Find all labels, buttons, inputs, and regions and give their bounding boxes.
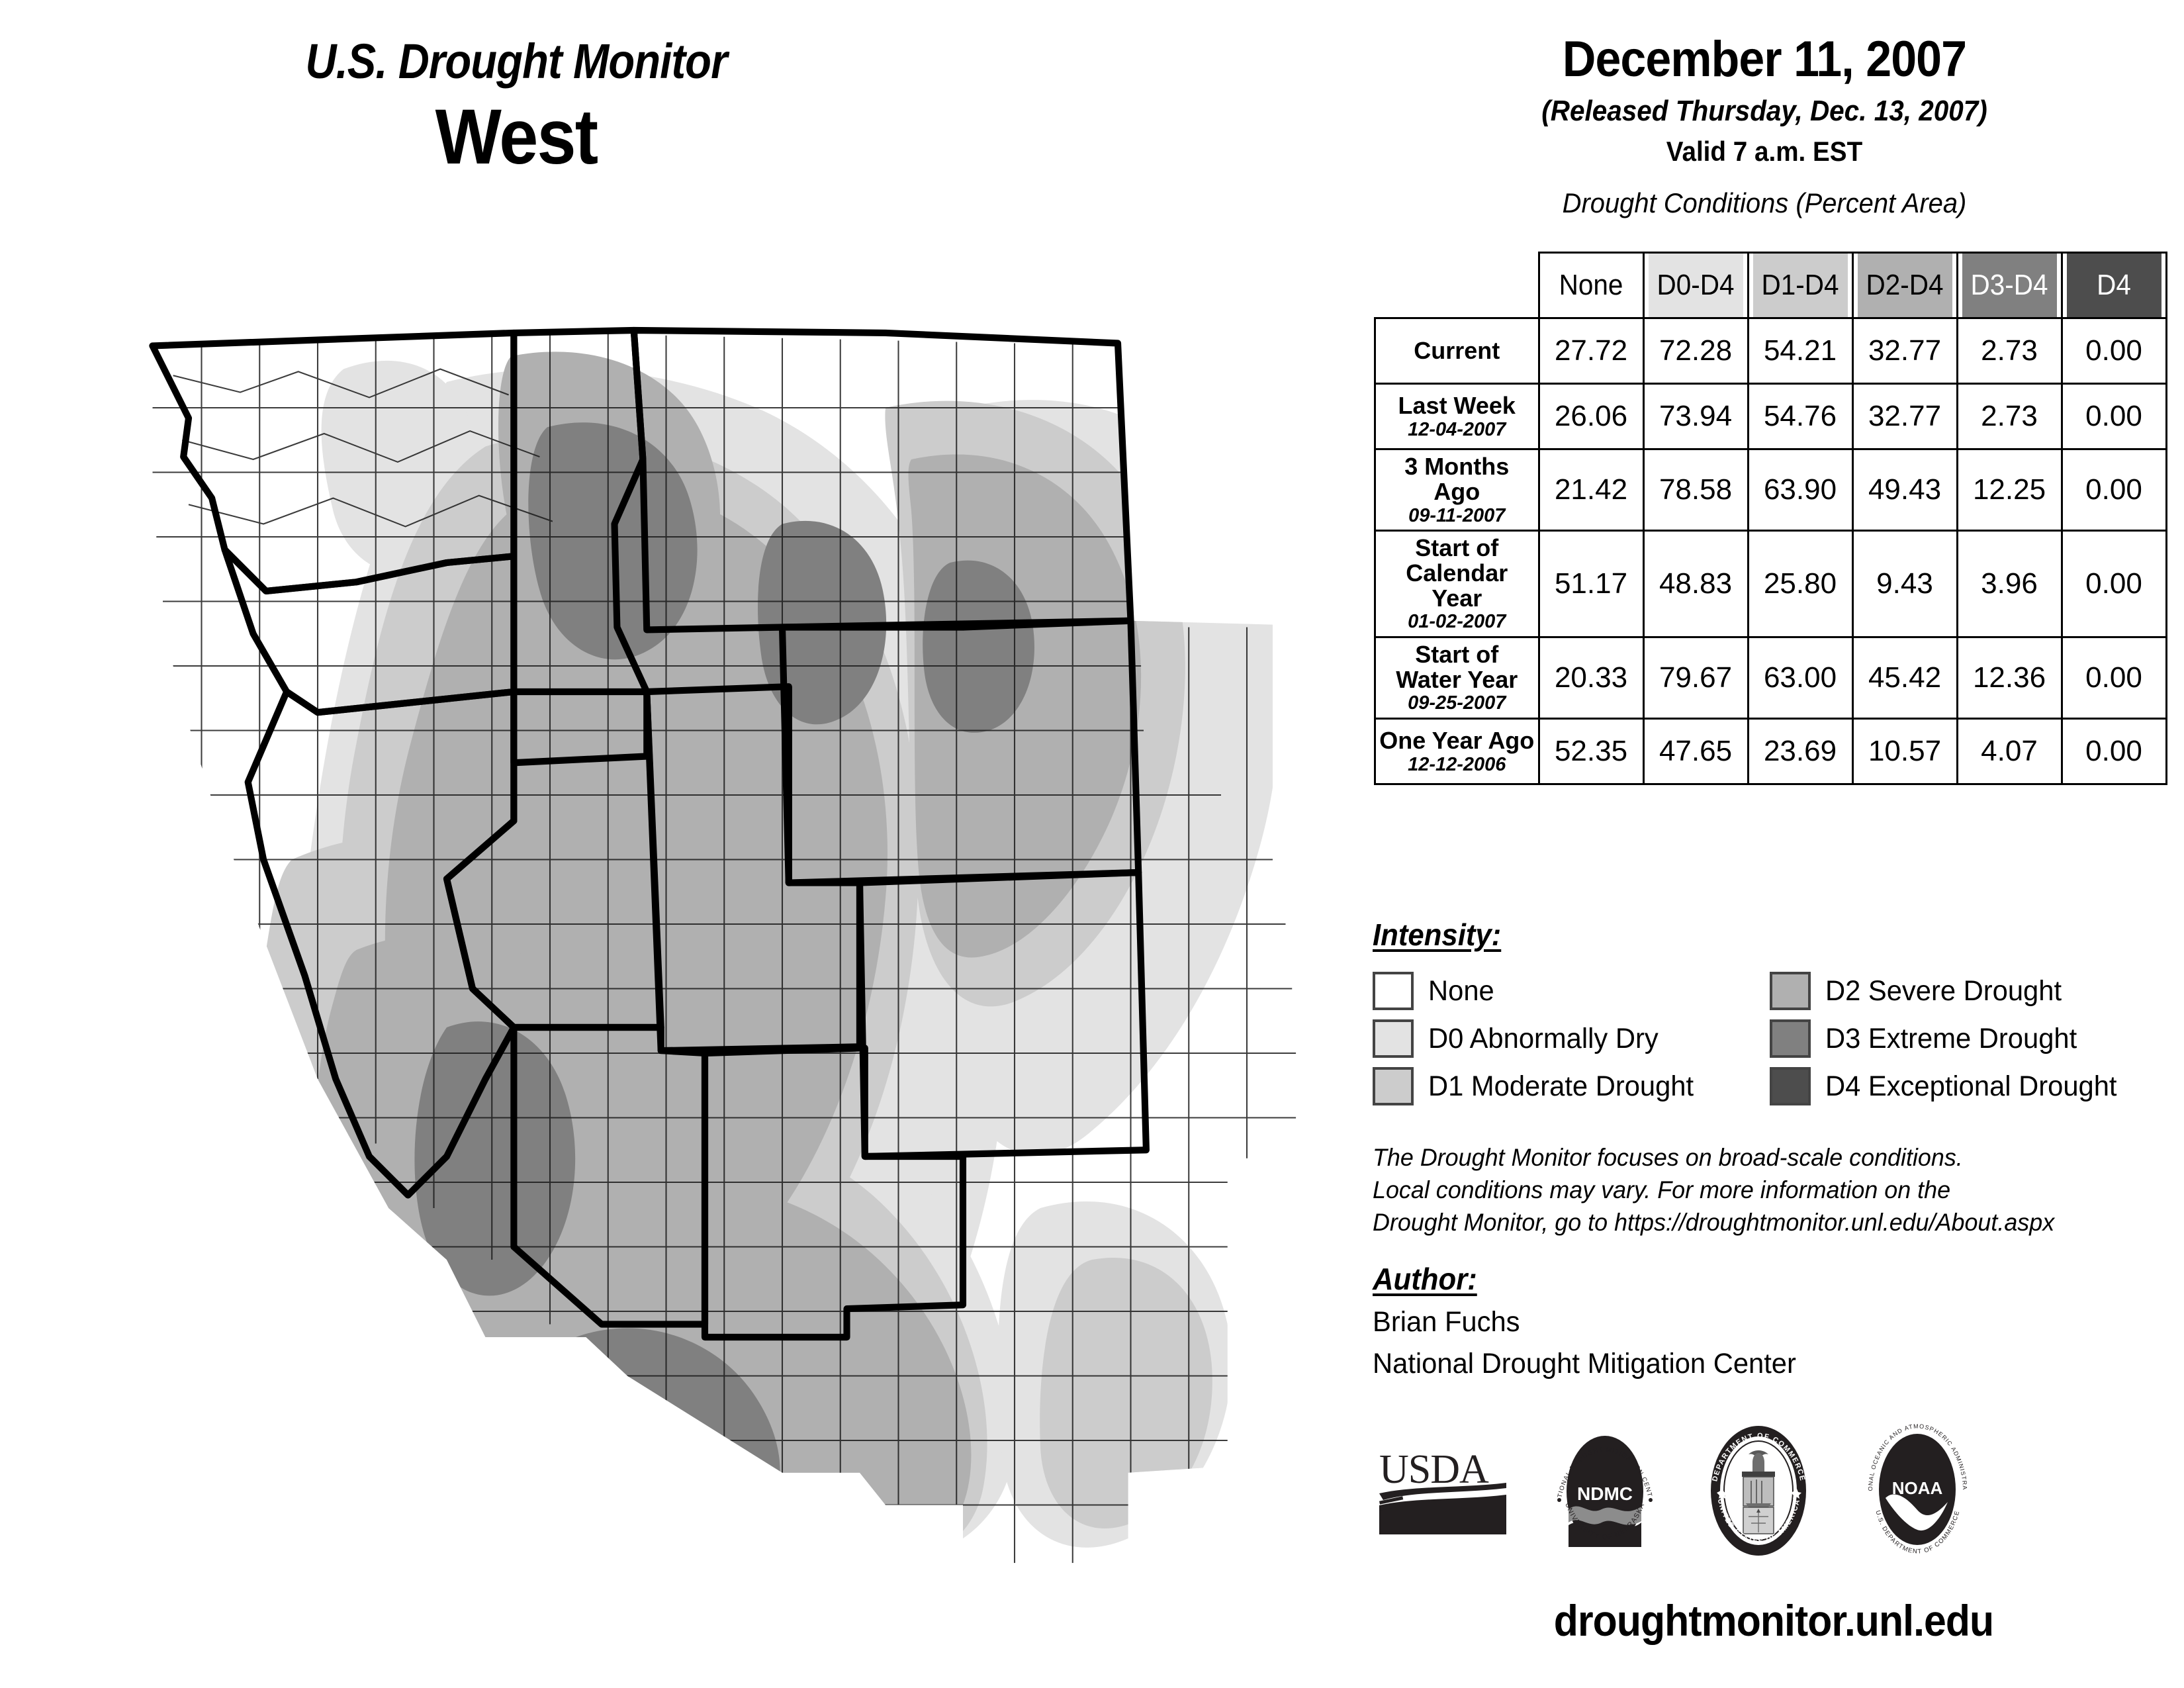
author-organization: National Drought Mitigation Center — [1373, 1348, 2150, 1380]
legend-swatch — [1770, 972, 1811, 1010]
table-cell-d0-d4: 47.65 — [1643, 718, 1748, 784]
table-cell-none: 21.42 — [1539, 449, 1643, 531]
legend-swatch — [1373, 1067, 1414, 1105]
table-cell-d1-d4: 63.00 — [1748, 637, 1852, 718]
table-col-header-d1-d4: D1-D4 — [1752, 253, 1848, 318]
ndmc-logo: NDMC NATIONAL DROUGHT MITIGATION CENTER … — [1549, 1422, 1661, 1564]
row-label: Start ofCalendar Year01-02-2007 — [1375, 531, 1539, 637]
table-cell-d1-d4: 54.76 — [1748, 384, 1852, 449]
table-cell-d0-d4: 79.67 — [1643, 637, 1748, 718]
table-cell-none: 27.72 — [1539, 318, 1643, 384]
table-cell-d2-d4: 10.57 — [1852, 718, 1957, 784]
table-cell-d4: 0.00 — [2062, 449, 2166, 531]
table-cell-d1-d4: 63.90 — [1748, 449, 1852, 531]
author-section: Author: Brian Fuchs National Drought Mit… — [1373, 1261, 2173, 1380]
legend-label: D3 Extreme Drought — [1825, 1023, 2077, 1055]
usda-logo: USDA — [1377, 1442, 1509, 1544]
info-panel: December 11, 2007 (Released Thursday, De… — [1363, 0, 2184, 1688]
table-cell-d4: 0.00 — [2062, 384, 2166, 449]
row-label: One Year Ago12-12-2006 — [1375, 718, 1539, 784]
legend-swatch — [1373, 1019, 1414, 1058]
table-cell-d2-d4: 32.77 — [1852, 318, 1957, 384]
table-cell-d2-d4: 9.43 — [1852, 531, 1957, 637]
legend-swatch — [1770, 1019, 1811, 1058]
release-date: (Released Thursday, Dec. 13, 2007) — [1405, 95, 2124, 128]
table-cell-d3-d4: 2.73 — [1957, 384, 2062, 449]
drought-map[interactable] — [60, 305, 1350, 1595]
legend-label: D2 Severe Drought — [1825, 975, 2062, 1008]
row-label-date: 01-02-2007 — [1379, 612, 1535, 632]
legend-label: None — [1428, 975, 1494, 1008]
table-cell-d0-d4: 48.83 — [1643, 531, 1748, 637]
agency-logos: USDA NDMC NATIONAL D — [1377, 1420, 2177, 1566]
table-row: Start ofWater Year09-25-200720.3379.6763… — [1375, 637, 2167, 718]
row-label-text: Last Week — [1379, 393, 1535, 418]
table-col-header-d0-d4: D0-D4 — [1647, 253, 1743, 318]
table-col-header-d2-d4: D2-D4 — [1856, 253, 1952, 318]
table-cell-d0-d4: 72.28 — [1643, 318, 1748, 384]
table-cell-d0-d4: 78.58 — [1643, 449, 1748, 531]
table-cell-d4: 0.00 — [2062, 637, 2166, 718]
legend-label: D4 Exceptional Drought — [1825, 1070, 2117, 1103]
disclaimer-line-1: The Drought Monitor focuses on broad-sca… — [1373, 1142, 2150, 1174]
table-row: One Year Ago12-12-200652.3547.6523.6910.… — [1375, 718, 2167, 784]
row-label-date: 12-12-2006 — [1379, 755, 1535, 774]
disclaimer-line-2: Local conditions may vary. For more info… — [1373, 1174, 2150, 1207]
map-panel: U.S. Drought Monitor West — [0, 0, 1363, 1688]
row-label-text: One Year Ago — [1379, 728, 1535, 753]
title-line-region: West — [52, 92, 981, 182]
table-cell-d4: 0.00 — [2062, 531, 2166, 637]
legend-item: D2 Severe Drought — [1770, 967, 2167, 1015]
table-col-header-d3-d4: D3-D4 — [1961, 253, 2057, 318]
map-drought-shading — [60, 305, 1350, 1595]
intensity-legend-grid: NoneD2 Severe DroughtD0 Abnormally DryD3… — [1373, 967, 2173, 1110]
legend-item: D3 Extreme Drought — [1770, 1015, 2167, 1062]
table-cell-d1-d4: 23.69 — [1748, 718, 1852, 784]
table-cell-d0-d4: 73.94 — [1643, 384, 1748, 449]
table-body: Current27.7272.2854.2132.772.730.00Last … — [1375, 318, 2167, 784]
page-title: U.S. Drought Monitor West — [0, 33, 1032, 182]
noaa-logo: NOAA NATIONAL OCEANIC AND ATMOSPHERIC AD… — [1856, 1420, 1979, 1566]
drought-conditions-table: NoneD0-D4D1-D4D2-D4D3-D4D4 Current27.727… — [1374, 252, 2167, 785]
drought-map-svg[interactable] — [60, 305, 1350, 1595]
table-caption: Drought Conditions (Percent Area) — [1394, 187, 2136, 219]
table-col-header-none: None — [1543, 253, 1639, 318]
row-label: 3 Months Ago09-11-2007 — [1375, 449, 1539, 531]
intensity-legend: Intensity: NoneD2 Severe DroughtD0 Abnor… — [1373, 917, 2173, 1110]
report-date: December 11, 2007 — [1405, 30, 2124, 88]
table-cell-d2-d4: 32.77 — [1852, 384, 1957, 449]
disclaimer-line-3: Drought Monitor, go to https://droughtmo… — [1373, 1207, 2150, 1239]
table-cell-d2-d4: 45.42 — [1852, 637, 1957, 718]
title-line-primary: U.S. Drought Monitor — [62, 33, 971, 89]
table-row: 3 Months Ago09-11-200721.4278.5863.9049.… — [1375, 449, 2167, 531]
row-label-text: Start of — [1379, 536, 1535, 561]
table-cell-none: 20.33 — [1539, 637, 1643, 718]
legend-item: D1 Moderate Drought — [1373, 1062, 1770, 1110]
row-label: Last Week12-04-2007 — [1375, 384, 1539, 449]
table-row: Last Week12-04-200726.0673.9454.7632.772… — [1375, 384, 2167, 449]
legend-item: None — [1373, 967, 1770, 1015]
table-cell-d3-d4: 4.07 — [1957, 718, 2062, 784]
row-label: Start ofWater Year09-25-2007 — [1375, 637, 1539, 718]
row-label-text: Water Year — [1379, 667, 1535, 692]
legend-item: D0 Abnormally Dry — [1373, 1015, 1770, 1062]
author-label: Author: — [1373, 1261, 1477, 1297]
disclaimer-text: The Drought Monitor focuses on broad-sca… — [1373, 1142, 2173, 1239]
table-cell-d4: 0.00 — [2062, 318, 2166, 384]
table-cell-d3-d4: 3.96 — [1957, 531, 2062, 637]
row-label-date: 12-04-2007 — [1379, 420, 1535, 440]
table-header-row: NoneD0-D4D1-D4D2-D4D3-D4D4 — [1375, 253, 2167, 318]
row-label-date: 09-25-2007 — [1379, 693, 1535, 713]
svg-text:USDA: USDA — [1379, 1447, 1489, 1492]
table-cell-d3-d4: 12.25 — [1957, 449, 2062, 531]
row-label: Current — [1375, 318, 1539, 384]
table-cell-d3-d4: 2.73 — [1957, 318, 2062, 384]
table-cell-d1-d4: 54.21 — [1748, 318, 1852, 384]
legend-swatch — [1770, 1067, 1811, 1105]
table-cell-none: 26.06 — [1539, 384, 1643, 449]
table-cell-d3-d4: 12.36 — [1957, 637, 2062, 718]
svg-text:NOAA: NOAA — [1892, 1478, 1943, 1498]
legend-label: D0 Abnormally Dry — [1428, 1023, 1659, 1055]
intensity-legend-title: Intensity: — [1373, 917, 1501, 953]
table-cell-d1-d4: 25.80 — [1748, 531, 1852, 637]
row-label-text: Start of — [1379, 642, 1535, 667]
valid-time: Valid 7 a.m. EST — [1405, 136, 2124, 167]
table-cell-none: 51.17 — [1539, 531, 1643, 637]
table-cell-d4: 0.00 — [2062, 718, 2166, 784]
row-label-text: Calendar Year — [1379, 561, 1535, 611]
legend-swatch — [1373, 972, 1414, 1010]
author-name: Brian Fuchs — [1373, 1306, 2150, 1338]
row-label-date: 09-11-2007 — [1379, 506, 1535, 526]
department-of-commerce-seal: DEPARTMENT OF COMMERCE UNITED STATES OF … — [1701, 1420, 1817, 1566]
legend-label: D1 Moderate Drought — [1428, 1070, 1694, 1103]
date-header: December 11, 2007 (Released Thursday, De… — [1374, 0, 2155, 167]
row-label-text: 3 Months Ago — [1379, 454, 1535, 504]
legend-item: D4 Exceptional Drought — [1770, 1062, 2167, 1110]
table-corner-cell — [1381, 253, 1532, 318]
table-cell-d2-d4: 49.43 — [1852, 449, 1957, 531]
svg-text:NDMC: NDMC — [1577, 1483, 1633, 1504]
table-col-header-d4: D4 — [2066, 253, 2161, 318]
row-label-text: Current — [1379, 338, 1535, 363]
table-row: Start ofCalendar Year01-02-200751.1748.8… — [1375, 531, 2167, 637]
table-row: Current27.7272.2854.2132.772.730.00 — [1375, 318, 2167, 384]
footer-url[interactable]: droughtmonitor.unl.edu — [1396, 1595, 2152, 1646]
table-cell-none: 52.35 — [1539, 718, 1643, 784]
